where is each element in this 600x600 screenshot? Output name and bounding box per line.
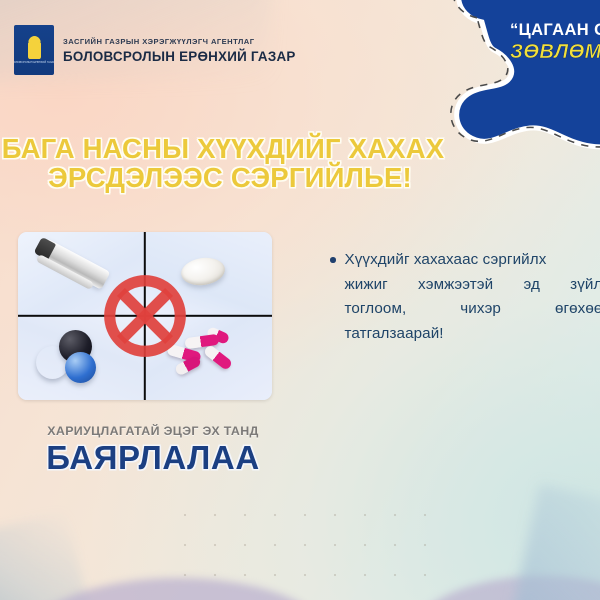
organization-title: БОЛОВСРОЛЫН ЕРӨНХИЙ ГАЗАР [63, 49, 296, 64]
prohibition-sign-icon [102, 273, 188, 359]
advice-line-3-word-1: тоглоом, [345, 297, 407, 322]
advice-line-2-word-2: хэмжээтэй [418, 273, 493, 298]
thank-you-title: БАЯРЛАЛАА [8, 439, 298, 477]
capsule-icon-3 [203, 344, 233, 371]
page-title-line1: БАГА НАСНЫ ХҮҮХДИЙГ ХАХАХ [0, 135, 460, 163]
organization-header: БОЛОВСРОЛЫН ЕРӨНХИЙ ГАЗАР ЗАСГИЙН ГАЗРЫН… [14, 25, 296, 75]
page-title-line2: ЭРСДЭЛЭЭС СЭРГИЙЛЬЕ! [0, 164, 460, 192]
background-blue-sliver [0, 511, 95, 600]
hazard-photo-panel [18, 232, 272, 400]
thank-you-subtitle: ХАРИУЦЛАГАТАЙ ЭЦЭГ ЭХ ТАНД [8, 424, 298, 438]
advice-line-2-word-3: эд [523, 273, 539, 298]
marble-green-icon [36, 346, 69, 379]
advice-line-2-word-4: зүйл [570, 273, 600, 298]
poster-canvas: БОЛОВСРОЛЫН ЕРӨНХИЙ ГАЗАР ЗАСГИЙН ГАЗРЫН… [0, 0, 600, 600]
organization-subtitle: ЗАСГИЙН ГАЗРЫН ХЭРЭГЖҮҮЛЭГЧ АГЕНТЛАГ [63, 37, 296, 46]
advice-line-1: Хүүхдийг хахахаас сэргийлх [345, 248, 600, 273]
advice-text-body: Хүүхдийг хахахаас сэргийлх жижиг хэмжээт… [345, 248, 600, 347]
page-title: БАГА НАСНЫ ХҮҮХДИЙГ ХАХАХ ЭРСДЭЛЭЭС СЭРГ… [0, 135, 460, 192]
advice-line-2: жижиг хэмжээтэй эд зүйл [345, 273, 600, 298]
advice-line-4: татгалзаарай! [345, 322, 600, 347]
government-logo-icon: БОЛОВСРОЛЫН ЕРӨНХИЙ ГАЗАР [14, 25, 54, 75]
soyombo-emblem-icon [28, 36, 41, 59]
advice-line-3-word-3: өгөхөө [555, 297, 600, 322]
bullet-dot-icon [330, 257, 336, 263]
advice-line-3-word-2: чихэр [460, 297, 501, 322]
logo-badge-caption: БОЛОВСРОЛЫН ЕРӨНХИЙ ГАЗАР [14, 61, 54, 64]
thank-you-block: ХАРИУЦЛАГАТАЙ ЭЦЭГ ЭХ ТАНД БАЯРЛАЛАА [8, 424, 298, 477]
background-blue-right [504, 484, 600, 600]
advice-line-3: тоглоом, чихэр өгөхөө [345, 297, 600, 322]
advice-line-2-word-1: жижиг [345, 273, 388, 298]
organization-text: ЗАСГИЙН ГАЗРЫН ХЭРЭГЖҮҮЛЭГЧ АГЕНТЛАГ БОЛ… [63, 37, 296, 64]
advice-bullet-item: Хүүхдийг хахахаас сэргийлх жижиг хэмжээт… [330, 248, 600, 347]
marble-blue-icon [65, 352, 96, 383]
